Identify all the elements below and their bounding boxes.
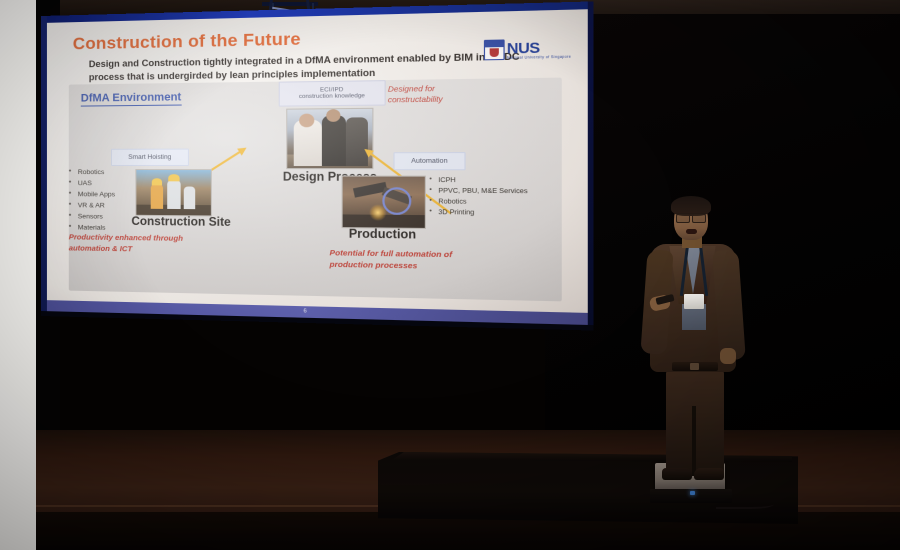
left-white-border — [0, 0, 36, 550]
automation-tag: Automation — [393, 152, 465, 170]
automation-label: Automation — [411, 157, 447, 165]
list-item: UAS — [69, 178, 115, 189]
list-item: Mobile Apps — [69, 189, 115, 200]
projection-screen: Construction of the Future Design and Co… — [41, 1, 594, 330]
list-item: 3D Printing — [429, 207, 527, 218]
slide-title: Construction of the Future — [73, 29, 301, 54]
eci-ipd-line2: construction knowledge — [299, 93, 365, 100]
nus-logo-text: NUS — [507, 39, 571, 55]
glasses-icon — [676, 213, 706, 221]
nus-crest-icon — [484, 39, 505, 60]
construction-site-photo — [135, 169, 212, 216]
nus-logo: NUS National University of Singapore — [484, 38, 571, 60]
monitor-cable — [716, 497, 774, 509]
construction-site-label: Construction Site — [123, 216, 239, 229]
productivity-note: Productivity enhanced through automation… — [69, 231, 202, 255]
projected-slide: Construction of the Future Design and Co… — [47, 9, 588, 325]
list-item: PPVC, PBU, M&E Services — [429, 186, 527, 197]
presenter-shoe-right — [694, 468, 724, 480]
smart-hoisting-label: Smart Hoisting — [128, 154, 171, 161]
name-badge — [684, 294, 704, 309]
list-item: Sensors — [69, 211, 115, 223]
monitor-led-icon — [690, 491, 695, 495]
production-photo — [342, 175, 426, 229]
presenter-shoe-left — [662, 468, 692, 480]
production-bullets: ICPH PPVC, PBU, M&E Services Robotics 3D… — [429, 176, 527, 219]
list-item: ICPH — [429, 176, 527, 187]
list-item: VR & AR — [69, 200, 115, 211]
dfma-environment-label: DfMA Environment — [81, 91, 181, 106]
smart-hoisting-tag: Smart Hoisting — [111, 149, 189, 166]
eci-ipd-box: ECI/IPD construction knowledge — [279, 80, 386, 107]
presenter — [628, 196, 758, 486]
automation-potential-note: Potential for full automation of product… — [330, 247, 498, 273]
nus-logo-subtext: National University of Singapore — [507, 54, 571, 59]
list-item: Robotics — [69, 167, 115, 178]
production-label: Production — [330, 228, 437, 242]
design-process-photo — [286, 108, 373, 169]
screen-right-border — [588, 1, 594, 330]
construction-site-bullets: Robotics UAS Mobile Apps VR & AR Sensors… — [69, 167, 115, 234]
list-item: Robotics — [429, 197, 527, 208]
designed-for-constructability-note: Designed for constructability — [388, 83, 485, 106]
presentation-scene: Construction of the Future Design and Co… — [0, 0, 900, 550]
